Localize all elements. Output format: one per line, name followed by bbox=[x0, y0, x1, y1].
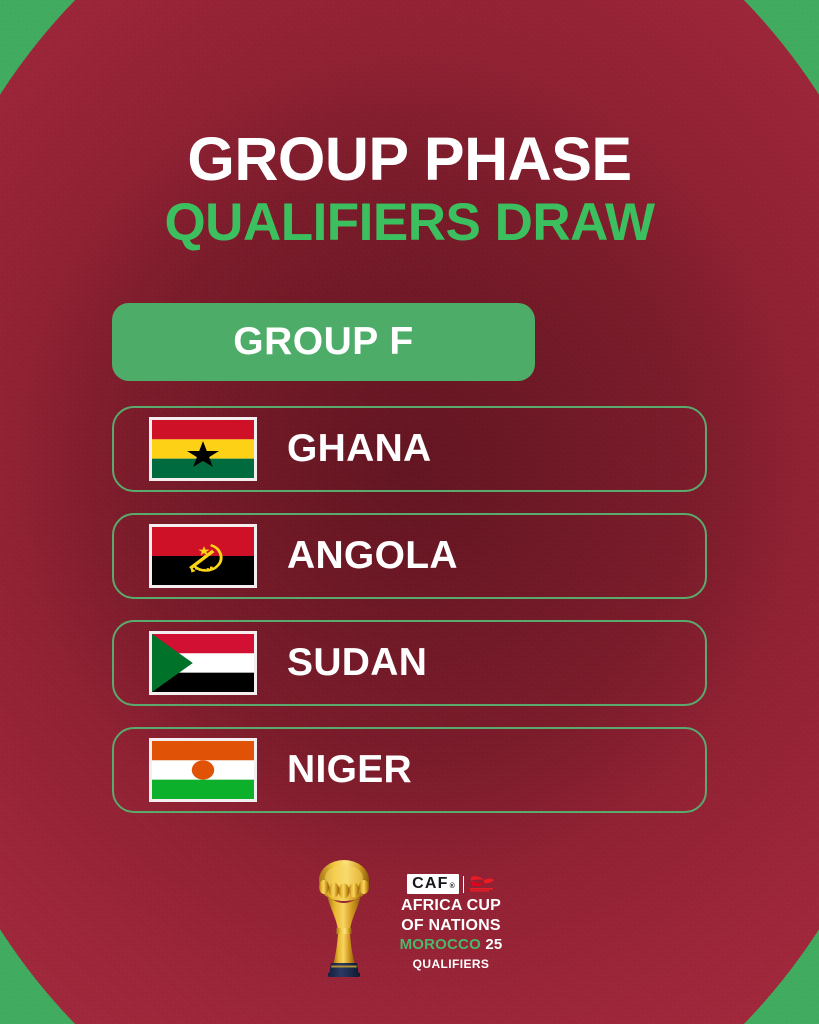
team-row: ANGOLA bbox=[112, 513, 707, 599]
morocco-year: 25 bbox=[485, 936, 502, 953]
poster-content: GROUP PHASE QUALIFIERS DRAW GROUP F GHAN… bbox=[0, 0, 819, 1024]
title-main: GROUP PHASE bbox=[0, 128, 819, 190]
team-name: ANGOLA bbox=[287, 534, 458, 578]
team-list: GHANA bbox=[112, 406, 707, 834]
ghana-flag bbox=[149, 417, 257, 481]
angola-flag bbox=[149, 524, 257, 588]
team-row: GHANA bbox=[112, 406, 707, 492]
niger-flag bbox=[149, 738, 257, 802]
team-row: SUDAN bbox=[112, 620, 707, 706]
line-qualifiers: QUALIFIERS bbox=[390, 957, 512, 971]
team-name: GHANA bbox=[287, 427, 432, 471]
caf-logo: CAF ® bbox=[407, 874, 459, 894]
competition-logo: CAF ® AFRICA CUP OF NATIONS MOROCCO bbox=[0, 857, 819, 979]
page-title: GROUP PHASE QUALIFIERS DRAW bbox=[0, 128, 819, 251]
sudan-flag bbox=[149, 631, 257, 695]
line-of-nations: OF NATIONS bbox=[390, 917, 512, 935]
team-name: NIGER bbox=[287, 748, 412, 792]
title-sub: QUALIFIERS DRAW bbox=[0, 195, 819, 251]
afcon-trophy-icon bbox=[307, 857, 381, 979]
totalenergies-logo bbox=[468, 874, 495, 894]
group-badge-label: GROUP F bbox=[233, 320, 413, 364]
line-africa-cup: AFRICA CUP bbox=[390, 897, 512, 915]
caf-lockup: CAF ® bbox=[390, 873, 512, 895]
caf-word: CAF bbox=[412, 876, 448, 892]
group-badge: GROUP F bbox=[112, 303, 535, 381]
line-morocco: MOROCCO 25 bbox=[390, 936, 512, 953]
logo-text-block: CAF ® AFRICA CUP OF NATIONS MOROCCO bbox=[390, 857, 512, 971]
morocco-word: MOROCCO bbox=[400, 936, 481, 953]
team-row: NIGER bbox=[112, 727, 707, 813]
poster: GROUP PHASE QUALIFIERS DRAW GROUP F GHAN… bbox=[0, 0, 819, 1024]
team-name: SUDAN bbox=[287, 641, 427, 685]
logo-divider bbox=[463, 876, 464, 893]
caf-registered-mark: ® bbox=[450, 883, 455, 890]
